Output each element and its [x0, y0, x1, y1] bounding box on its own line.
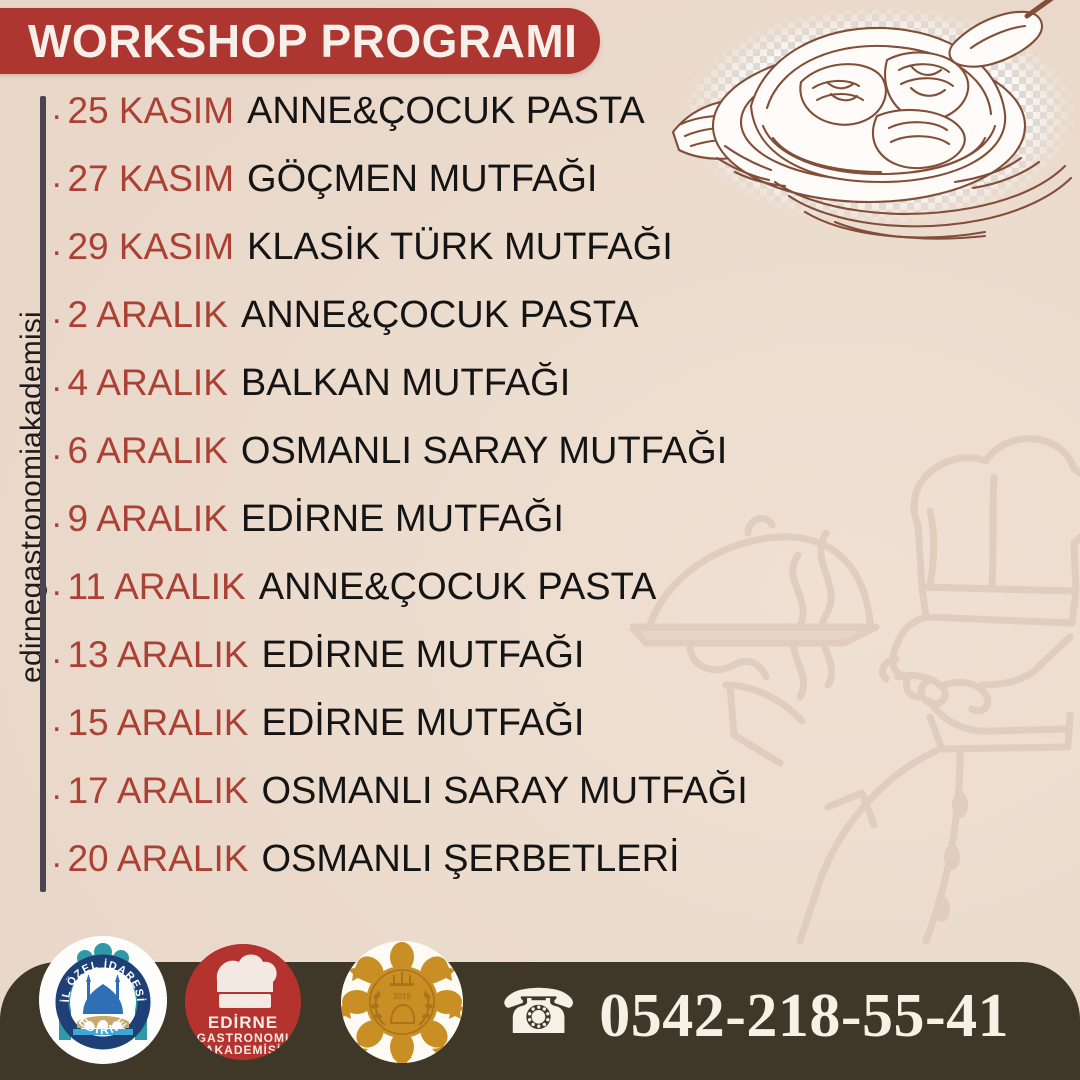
workshop-schedule-list: . 25 KASIM ANNE&ÇOCUK PASTA . 27 KASIM G…	[52, 92, 842, 908]
contact-phone[interactable]: ☎ 0542-218-55-41	[500, 985, 1009, 1047]
row-title: OSMANLI SARAY MUTFAĞI	[241, 432, 727, 470]
schedule-row: . 11 ARALIK ANNE&ÇOCUK PASTA	[52, 568, 842, 636]
row-title: EDİRNE MUTFAĞI	[241, 500, 564, 538]
row-date: 17 ARALIK	[67, 772, 248, 809]
schedule-row: . 20 ARALIK OSMANLI ŞERBETLERİ	[52, 840, 842, 908]
row-bullet: .	[52, 499, 61, 533]
row-bullet: .	[52, 567, 61, 601]
logo-edirne-gastronomi-akademisi: EDİRNE GASTRONOMI AKADEMİSİ	[185, 944, 301, 1060]
row-bullet: .	[52, 227, 61, 261]
row-title: EDİRNE MUTFAĞI	[261, 636, 584, 674]
row-title: EDİRNE MUTFAĞI	[261, 704, 584, 742]
phone-number: 0542-218-55-41	[599, 985, 1009, 1047]
schedule-row: . 15 ARALIK EDİRNE MUTFAĞI	[52, 704, 842, 772]
svg-text:EDİRNE: EDİRNE	[208, 1013, 278, 1032]
row-title: KLASİK TÜRK MUTFAĞI	[247, 228, 673, 266]
row-date: 27 KASIM	[67, 160, 234, 197]
row-date: 4 ARALIK	[67, 364, 227, 401]
row-date: 11 ARALIK	[67, 568, 245, 605]
row-title: GÖÇMEN MUTFAĞI	[247, 160, 597, 198]
schedule-row: . 2 ARALIK ANNE&ÇOCUK PASTA	[52, 296, 842, 364]
schedule-row: . 6 ARALIK OSMANLI SARAY MUTFAĞI	[52, 432, 842, 500]
schedule-row: . 27 KASIM GÖÇMEN MUTFAĞI	[52, 160, 842, 228]
list-divider-line	[40, 96, 46, 892]
schedule-row: . 17 ARALIK OSMANLI SARAY MUTFAĞI	[52, 772, 842, 840]
row-bullet: .	[52, 159, 61, 193]
row-bullet: .	[52, 431, 61, 465]
schedule-row: . 9 ARALIK EDİRNE MUTFAĞI	[52, 500, 842, 568]
schedule-row: . 25 KASIM ANNE&ÇOCUK PASTA	[52, 92, 842, 160]
row-date: 15 ARALIK	[67, 704, 248, 741]
row-date: 6 ARALIK	[67, 432, 227, 469]
row-title: ANNE&ÇOCUK PASTA	[247, 92, 645, 130]
row-title: BALKAN MUTFAĞI	[241, 364, 570, 402]
chef-hat-icon	[217, 955, 277, 1009]
row-title: ANNE&ÇOCUK PASTA	[259, 568, 657, 606]
row-bullet: .	[52, 771, 61, 805]
row-date: 9 ARALIK	[67, 500, 227, 537]
row-title: OSMANLI ŞERBETLERİ	[261, 840, 679, 878]
poster-canvas: WORKSHOP PROGRAMI edirnegastronomiakadem…	[0, 0, 1080, 1080]
schedule-row: . 13 ARALIK EDİRNE MUTFAĞI	[52, 636, 842, 704]
row-bullet: .	[52, 295, 61, 329]
row-date: 20 ARALIK	[67, 840, 248, 877]
header-banner: WORKSHOP PROGRAMI	[0, 8, 600, 74]
row-date: 29 KASIM	[67, 228, 234, 265]
row-bullet: .	[52, 363, 61, 397]
schedule-row: . 29 KASIM KLASİK TÜRK MUTFAĞI	[52, 228, 842, 296]
schedule-row: . 4 ARALIK BALKAN MUTFAĞI	[52, 364, 842, 432]
row-date: 25 KASIM	[67, 92, 234, 129]
row-bullet: .	[52, 91, 61, 125]
logo-gold-medallion: 2015	[341, 941, 463, 1063]
row-title: OSMANLI SARAY MUTFAĞI	[261, 772, 747, 810]
row-date: 2 ARALIK	[67, 296, 227, 333]
logo-il-ozel-idaresi-edirne: İL ÖZEL İDARESİ EDİRNE	[39, 936, 167, 1064]
row-date: 13 ARALIK	[67, 636, 248, 673]
medallion-year: 2015	[393, 992, 411, 1001]
row-title: ANNE&ÇOCUK PASTA	[241, 296, 639, 334]
phone-icon: ☎	[500, 982, 577, 1044]
row-bullet: .	[52, 635, 61, 669]
row-bullet: .	[52, 839, 61, 873]
page-title: WORKSHOP PROGRAMI	[0, 18, 577, 64]
row-bullet: .	[52, 703, 61, 737]
